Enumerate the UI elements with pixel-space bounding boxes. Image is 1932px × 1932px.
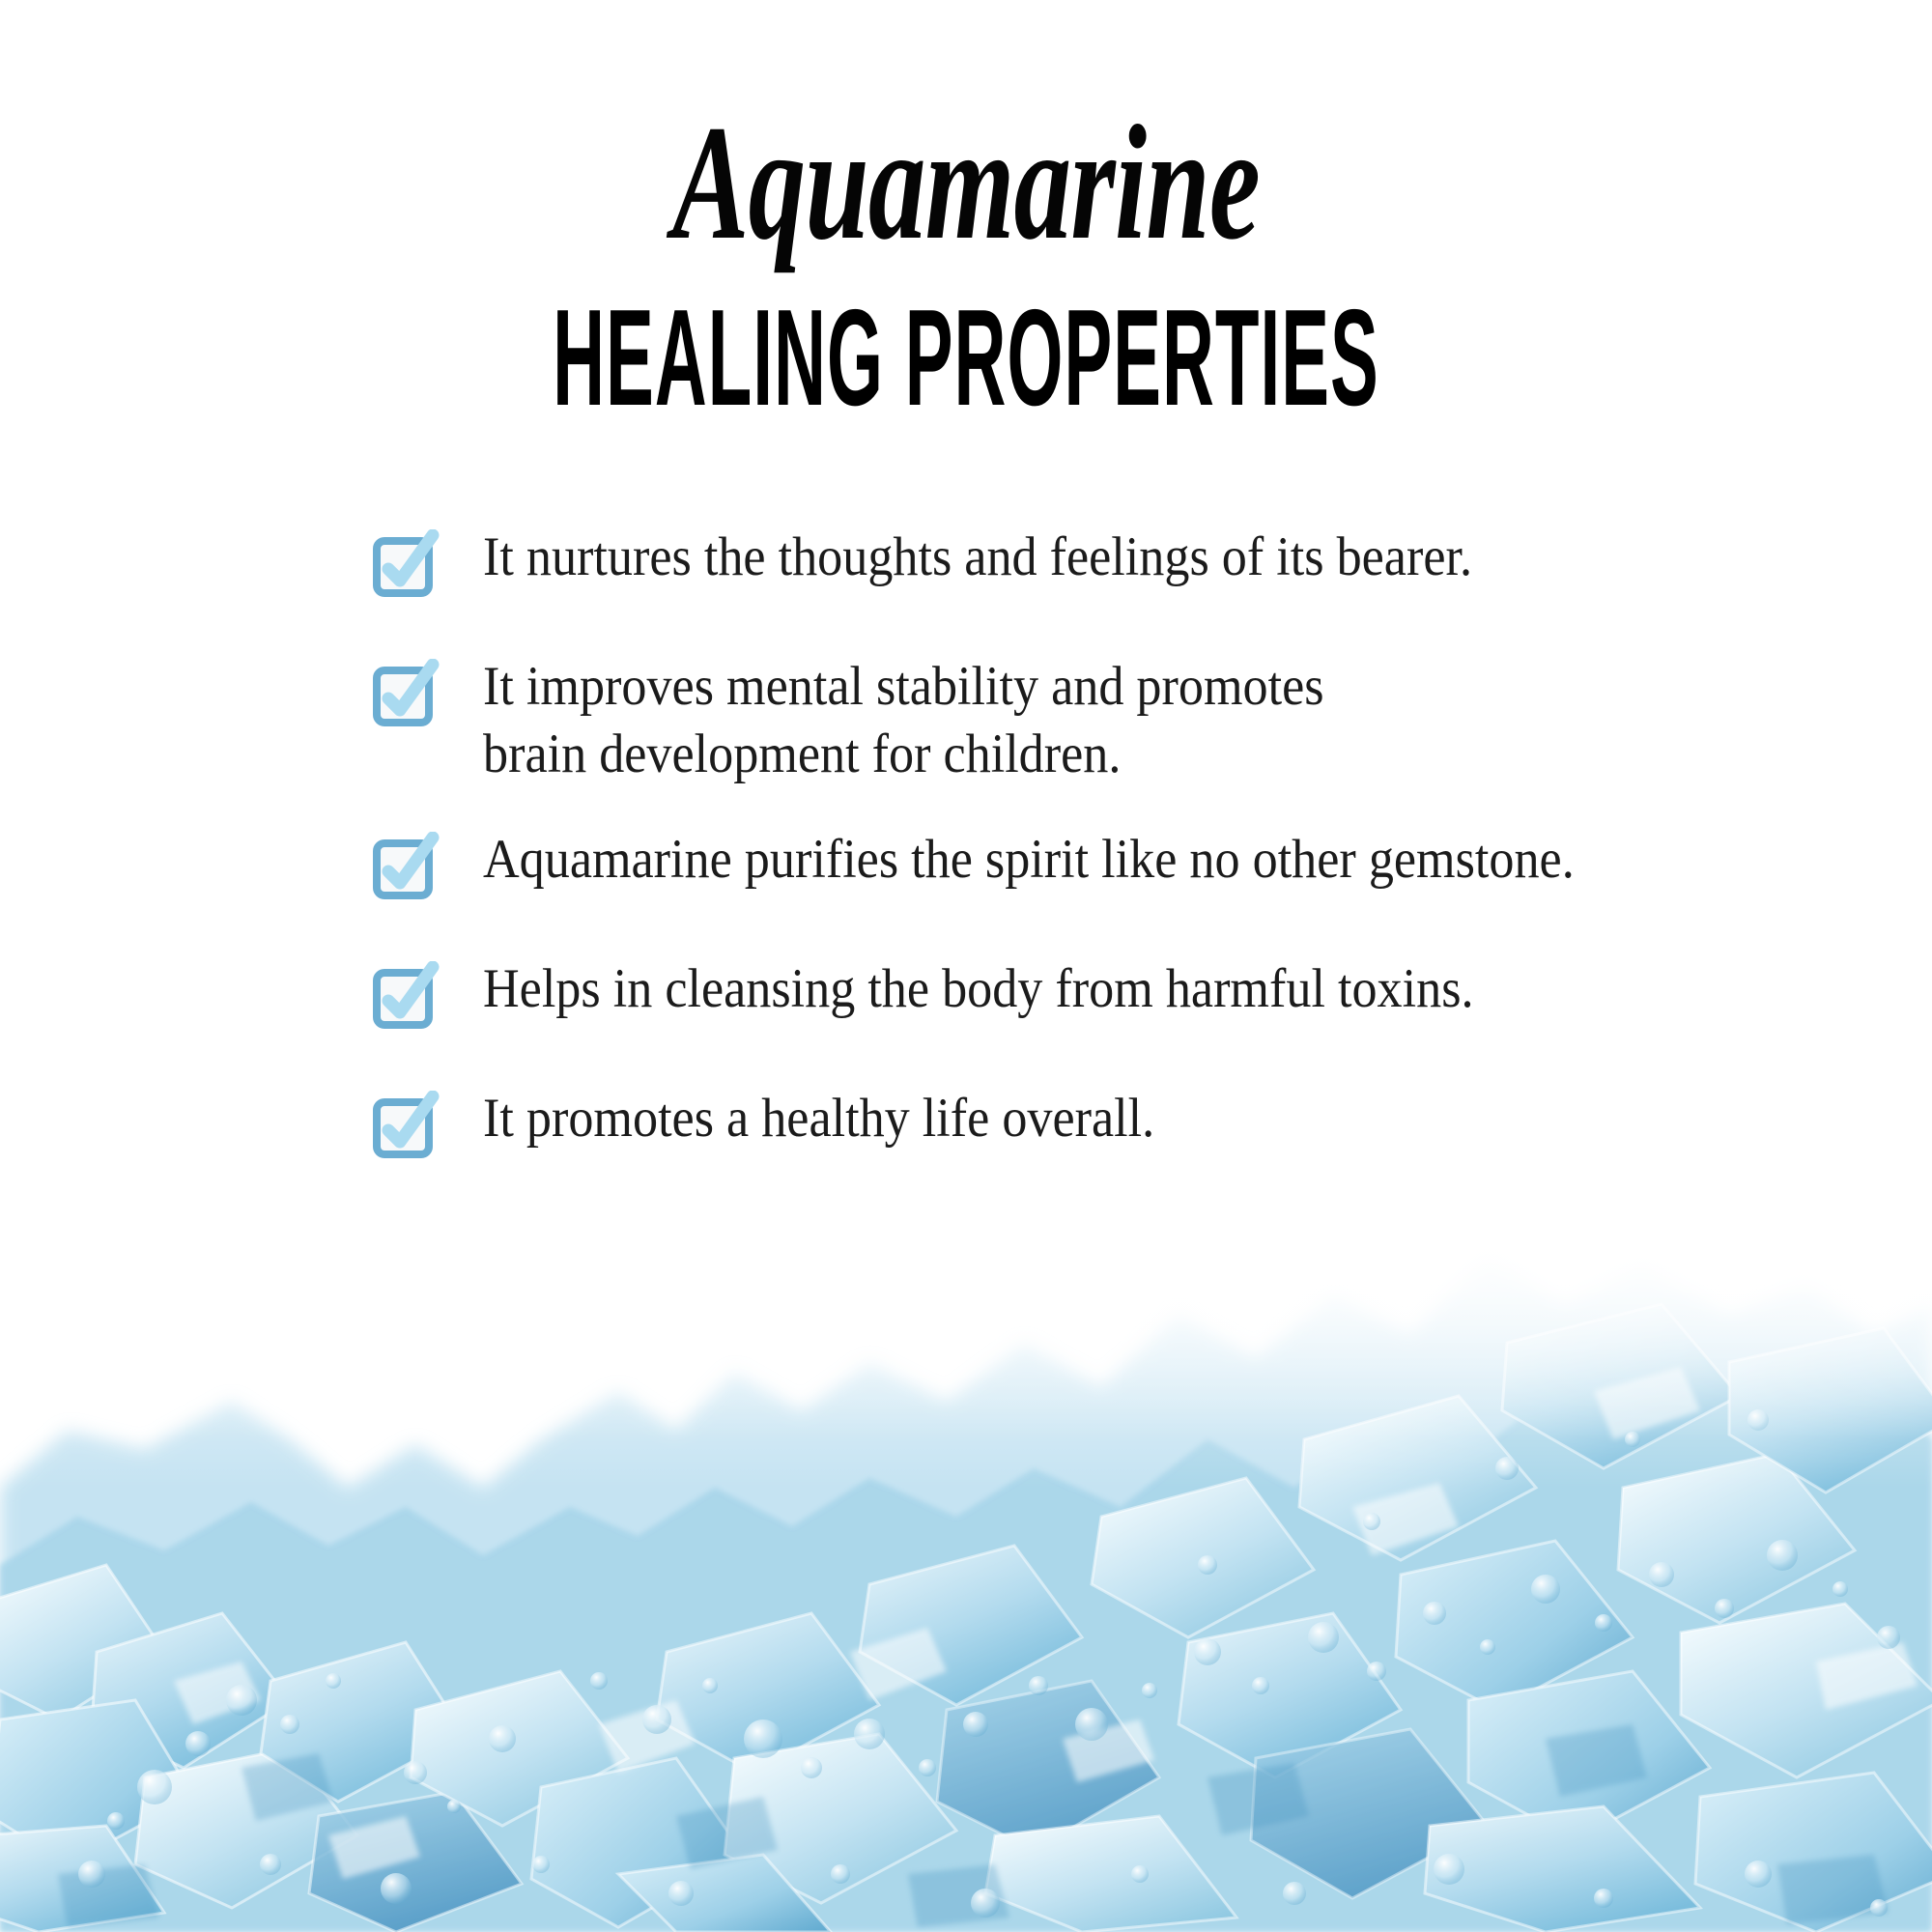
healing-properties-list: It nurtures the thoughts and feelings of… <box>373 522 1861 1212</box>
list-item: Helps in cleansing the body from harmful… <box>373 953 1861 1033</box>
checked-checkbox-icon <box>373 1091 444 1162</box>
list-item-text: It improves mental stability and promote… <box>483 651 1324 787</box>
ice-cubes-photo <box>0 1198 1932 1932</box>
list-item-text: Aquamarine purifies the spirit like no o… <box>483 824 1575 894</box>
list-item: It nurtures the thoughts and feelings of… <box>373 522 1861 601</box>
list-item-text: It promotes a healthy life overall. <box>483 1083 1154 1152</box>
poster-header: Aquamarine HEALING PROPERTIES <box>0 0 1932 427</box>
checked-checkbox-icon <box>373 961 444 1033</box>
list-item-text: Helps in cleansing the body from harmful… <box>483 953 1474 1023</box>
list-item-text: It nurtures the thoughts and feelings of… <box>483 522 1472 591</box>
list-item: It improves mental stability and promote… <box>373 651 1861 787</box>
checked-checkbox-icon <box>373 832 444 903</box>
checked-checkbox-icon <box>373 659 444 730</box>
page-subtitle: HEALING PROPERTIES <box>459 265 1473 427</box>
checked-checkbox-icon <box>373 529 444 601</box>
page-title: Aquamarine <box>290 0 1642 265</box>
list-item: Aquamarine purifies the spirit like no o… <box>373 824 1861 903</box>
poster-canvas: Aquamarine HEALING PROPERTIES It nurture… <box>0 0 1932 1932</box>
list-item: It promotes a healthy life overall. <box>373 1083 1861 1162</box>
